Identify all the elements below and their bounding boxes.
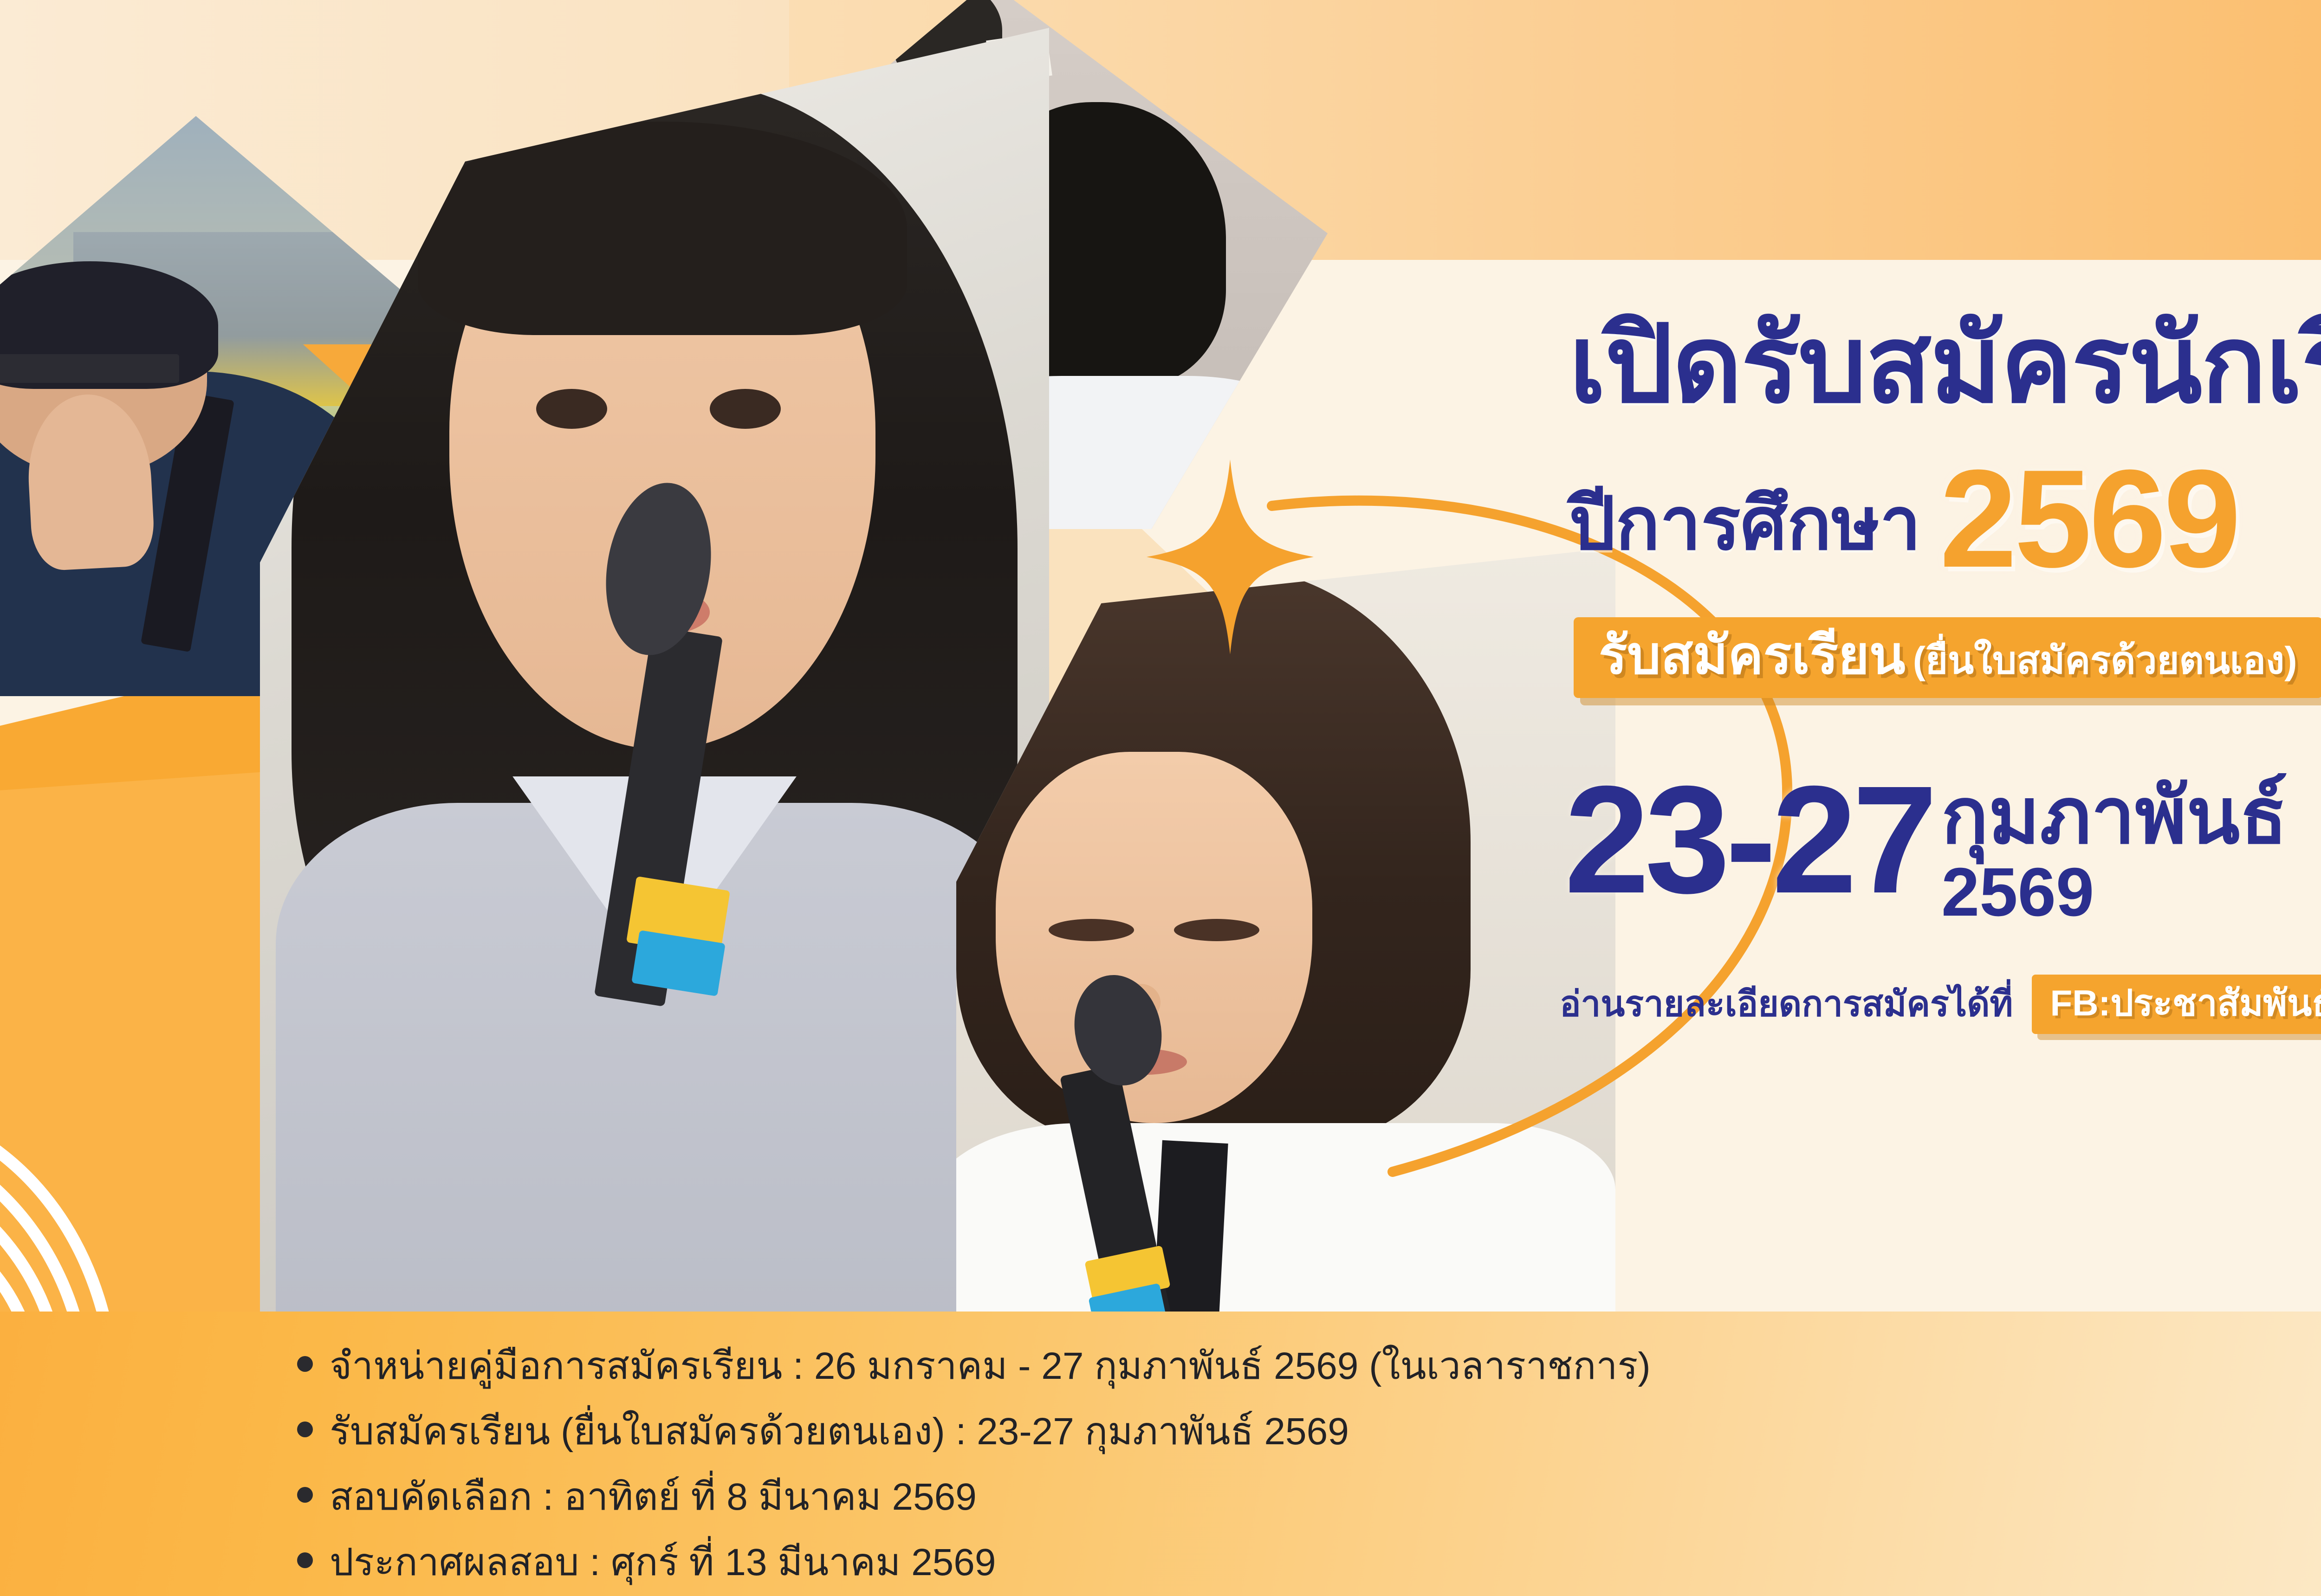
read-more-row: อ่านรายละเอียดการสมัครได้ที่ FB:ประชาสัม… — [1560, 975, 2321, 1034]
list-item-label: รับสมัครเรียน (ยื่นใบสมัครด้วยตนเอง) : 2… — [330, 1402, 1349, 1461]
academic-year-value: 2569 — [1939, 459, 2238, 578]
apply-badge-sub-label: (ยื่นใบสมัครด้วยตนเอง) — [1913, 642, 2297, 680]
application-date-range: 23-27 — [1564, 775, 1933, 904]
schedule-bullet-list: จำหน่ายคู่มือการสมัครเรียน : 26 มกราคม -… — [297, 1337, 2107, 1596]
application-date-block: 23-27 กุมภาพันธ์ 2569 — [1564, 775, 2288, 927]
list-item: จำหน่ายคู่มือการสมัครเรียน : 26 มกราคม -… — [297, 1337, 2107, 1396]
list-item: ประกาศผลสอบ : ศุกร์ ที่ 13 มีนาคม 2569 — [297, 1533, 2107, 1592]
contact-facebook[interactable]: FB:ประชาสัมพันธ์ เทคนิคหาดใหญ่ — [2117, 1346, 2321, 1389]
application-month-year: กุมภาพันธ์ 2569 — [1941, 779, 2288, 927]
application-month: กุมภาพันธ์ — [1941, 779, 2288, 853]
academic-year-label: ปีการศึกษา — [1569, 487, 1921, 561]
list-item-label: จำหน่ายคู่มือการสมัครเรียน : 26 มกราคม -… — [330, 1337, 1651, 1396]
academic-year-line: ปีการศึกษา 2569 — [1569, 441, 2238, 561]
contact-info: FB:ประชาสัมพันธ์ เทคนิคหาดใหญ่ www.htc.a… — [2117, 1346, 2321, 1473]
bullet-dot-icon — [297, 1487, 313, 1503]
list-item-label: ประกาศผลสอบ : ศุกร์ ที่ 13 มีนาคม 2569 — [330, 1533, 996, 1592]
read-more-label: อ่านรายละเอียดการสมัครได้ที่ — [1560, 987, 2013, 1022]
bullet-dot-icon — [297, 1422, 313, 1437]
admission-banner: ก.ส.น.บ. สำนักงานคณะกรรมการการอาชีวศึกษา… — [0, 0, 2321, 1596]
page-title: เปิดรับสมัครนักเรียน — [1569, 311, 2321, 419]
bullet-dot-icon — [297, 1552, 313, 1568]
list-item-label: สอบคัดเลือก : อาทิตย์ ที่ 8 มีนาคม 2569 — [330, 1467, 977, 1526]
apply-now-badge[interactable]: รับสมัครเรียน (ยื่นใบสมัครด้วยตนเอง) — [1574, 617, 2321, 698]
main-message-column: เปิดรับสมัครนักเรียน ปีการศึกษา 2569 รับ… — [1476, 278, 2321, 1262]
contact-website-url[interactable]: www.htc.ac.th/ent — [2117, 1429, 2321, 1473]
application-year: 2569 — [1941, 858, 2288, 927]
facebook-page-badge[interactable]: FB:ประชาสัมพันธ์ เทคนิคหาดใหญ่ — [2032, 975, 2321, 1034]
list-item: สอบคัดเลือก : อาทิตย์ ที่ 8 มีนาคม 2569 — [297, 1467, 2107, 1526]
apply-badge-main-label: รับสมัครเรียน — [1599, 629, 1906, 682]
bullet-dot-icon — [297, 1356, 313, 1372]
list-item: รับสมัครเรียน (ยื่นใบสมัครด้วยตนเอง) : 2… — [297, 1402, 2107, 1461]
